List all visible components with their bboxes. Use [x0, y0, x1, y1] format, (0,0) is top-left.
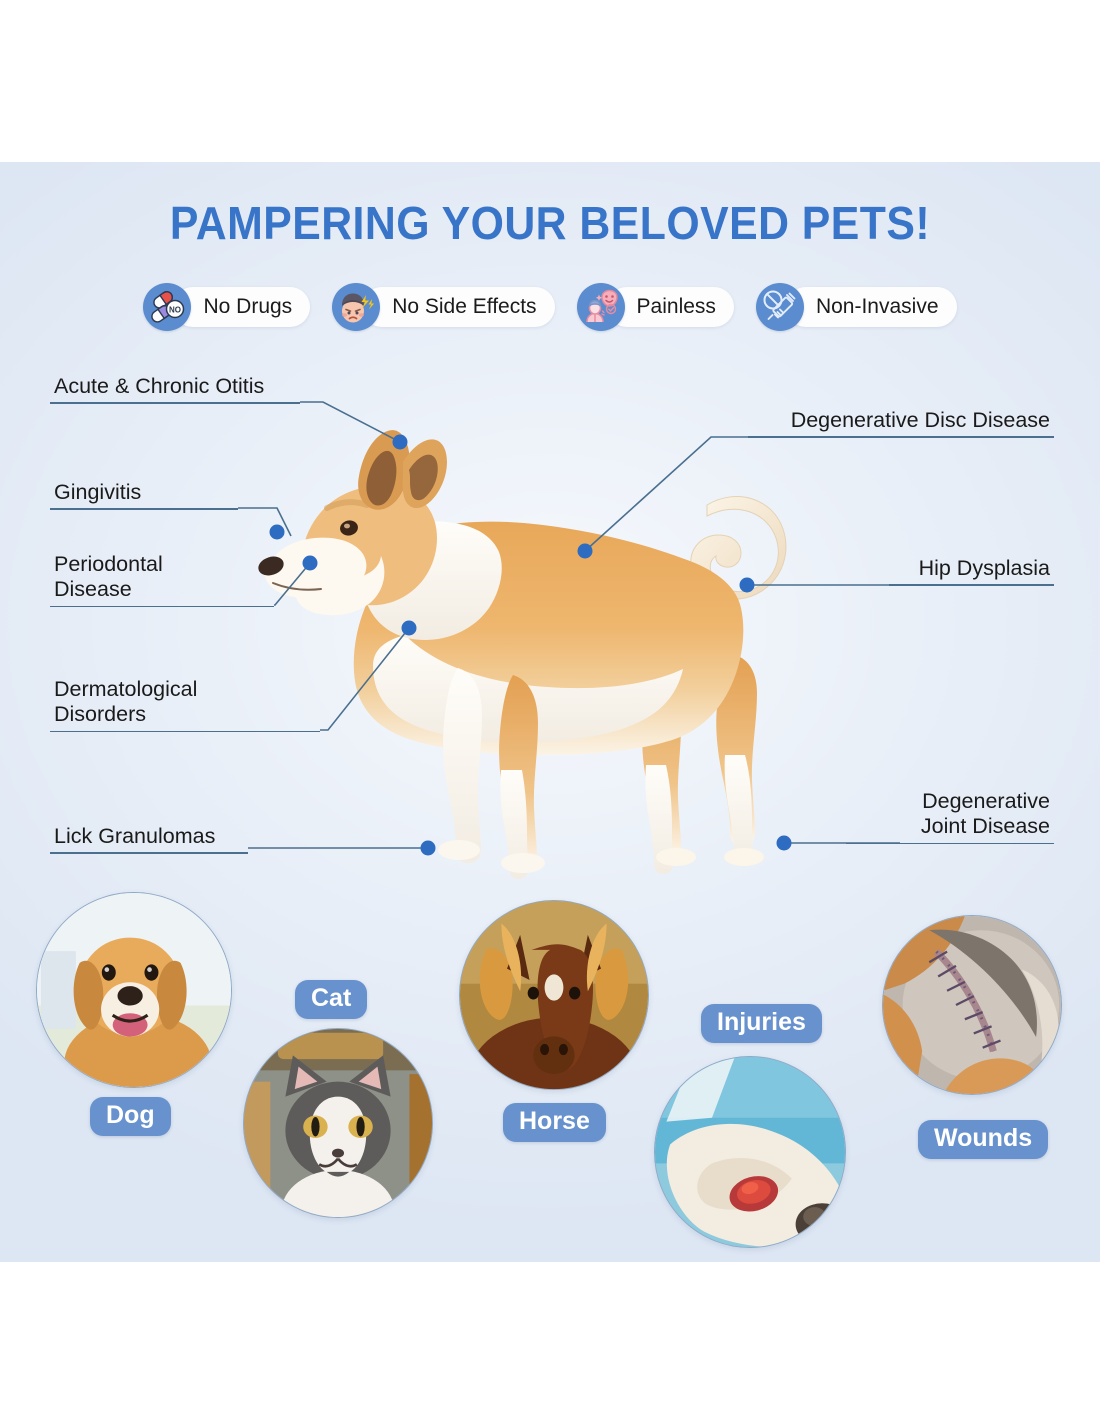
callout-label: Acute & Chronic Otitis [50, 374, 300, 402]
callout-degenerative-joint-disease[interactable]: Degenerative Joint Disease [846, 789, 1054, 844]
gallery-label-injuries: Injuries [701, 1004, 822, 1043]
syringe-prohibited-icon [756, 283, 804, 331]
gallery-photo-dog[interactable] [36, 892, 232, 1088]
callout-degenerative-disc-disease[interactable]: Degenerative Disc Disease [748, 408, 1054, 438]
badge-no-side-effects[interactable]: No Side Effects [332, 283, 554, 331]
chestnut-horse-photo [460, 901, 648, 1089]
gallery-label-cat: Cat [295, 980, 367, 1019]
dog-photo [255, 420, 855, 905]
page-title: PAMPERING YOUR BELOVED PETS! [39, 196, 1062, 250]
callout-label: Gingivitis [50, 480, 238, 508]
callout-rule [50, 402, 300, 404]
injured-paw-photo [655, 1057, 845, 1247]
gallery-label-horse: Horse [503, 1103, 606, 1142]
gallery-photo-wounds[interactable] [882, 915, 1062, 1095]
callout-periodontal-disease[interactable]: Periodontal Disease [50, 552, 274, 607]
sutured-wound-photo [883, 916, 1061, 1094]
gallery-photo-injuries[interactable] [654, 1056, 846, 1248]
badge-no-drugs[interactable]: NO No Drugs [143, 283, 310, 331]
feature-badge-row: NO No Drugs [0, 283, 1100, 331]
gallery-label-wounds: Wounds [918, 1120, 1048, 1159]
callout-label: Dermatological Disorders [50, 677, 320, 731]
patient-happy-mask-icon [577, 283, 625, 331]
svg-text:NO: NO [169, 305, 181, 314]
callout-rule [889, 584, 1054, 586]
callout-rule [846, 843, 1054, 845]
gallery-photo-cat[interactable] [243, 1028, 433, 1218]
gallery-photo-horse[interactable] [459, 900, 649, 1090]
badge-label: No Side Effects [362, 287, 554, 327]
callout-label: Degenerative Joint Disease [846, 789, 1054, 843]
callout-acute-chronic-otitis[interactable]: Acute & Chronic Otitis [50, 374, 300, 404]
gallery-label-dog: Dog [90, 1097, 171, 1136]
badge-label: No Drugs [173, 287, 310, 327]
callout-label: Hip Dysplasia [889, 556, 1054, 584]
callout-label: Lick Granulomas [50, 824, 248, 852]
callout-rule [50, 508, 238, 510]
badge-label: Non-Invasive [786, 287, 957, 327]
badge-non-invasive[interactable]: Non-Invasive [756, 283, 957, 331]
callout-rule [748, 436, 1054, 438]
callout-dermatological-disorders[interactable]: Dermatological Disorders [50, 677, 320, 732]
badge-label: Painless [607, 287, 734, 327]
callout-hip-dysplasia[interactable]: Hip Dysplasia [889, 556, 1054, 586]
callout-rule [50, 731, 320, 733]
angry-face-lightning-icon [332, 283, 380, 331]
badge-painless[interactable]: Painless [577, 283, 734, 331]
golden-retriever-photo [37, 893, 231, 1087]
callout-rule [50, 606, 274, 608]
pills-no-icon: NO [143, 283, 191, 331]
callout-gingivitis[interactable]: Gingivitis [50, 480, 238, 510]
callout-label: Degenerative Disc Disease [748, 408, 1054, 436]
grey-white-cat-photo [244, 1029, 432, 1217]
infographic-page: PAMPERING YOUR BELOVED PETS! NO [0, 0, 1100, 1422]
callout-lick-granulomas[interactable]: Lick Granulomas [50, 824, 248, 854]
callout-label: Periodontal Disease [50, 552, 274, 606]
callout-rule [50, 852, 248, 854]
